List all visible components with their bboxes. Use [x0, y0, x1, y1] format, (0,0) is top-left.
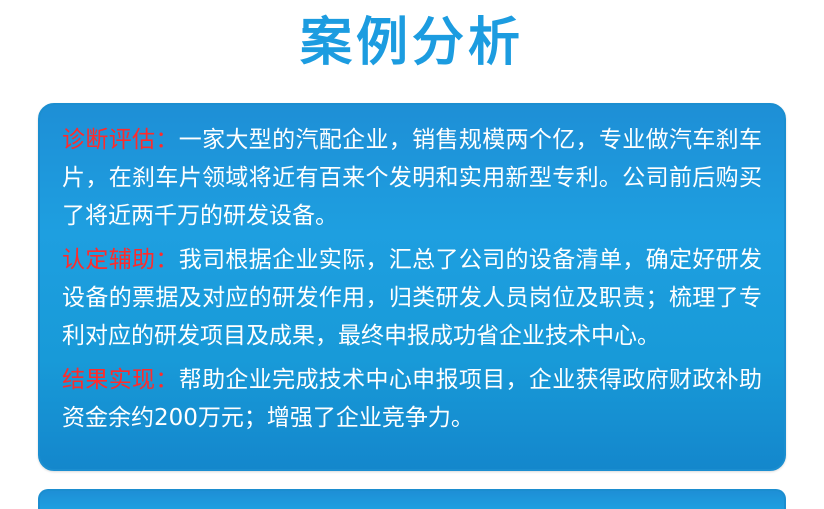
paragraph-result-label: 结果实现： [62, 367, 179, 393]
paragraph-certification: 认定辅助：我司根据企业实际，汇总了公司的设备清单，确定好研发设备的票据及对应的研… [62, 241, 762, 355]
slide: 案例分析 诊断评估：一家大型的汽配企业，销售规模两个亿，专业做汽车刹车片，在刹车… [0, 0, 824, 509]
paragraph-certification-label: 认定辅助： [62, 247, 179, 273]
paragraph-diagnosis: 诊断评估：一家大型的汽配企业，销售规模两个亿，专业做汽车刹车片，在刹车片领域将近… [62, 121, 762, 235]
case-analysis-card: 诊断评估：一家大型的汽配企业，销售规模两个亿，专业做汽车刹车片，在刹车片领域将近… [38, 103, 786, 471]
page-title: 案例分析 [0, 6, 824, 80]
next-card-top-edge [38, 489, 786, 509]
paragraph-result: 结果实现：帮助企业完成技术中心申报项目，企业获得政府财政补助资金余约200万元；… [62, 361, 762, 437]
paragraph-diagnosis-label: 诊断评估： [62, 127, 179, 153]
